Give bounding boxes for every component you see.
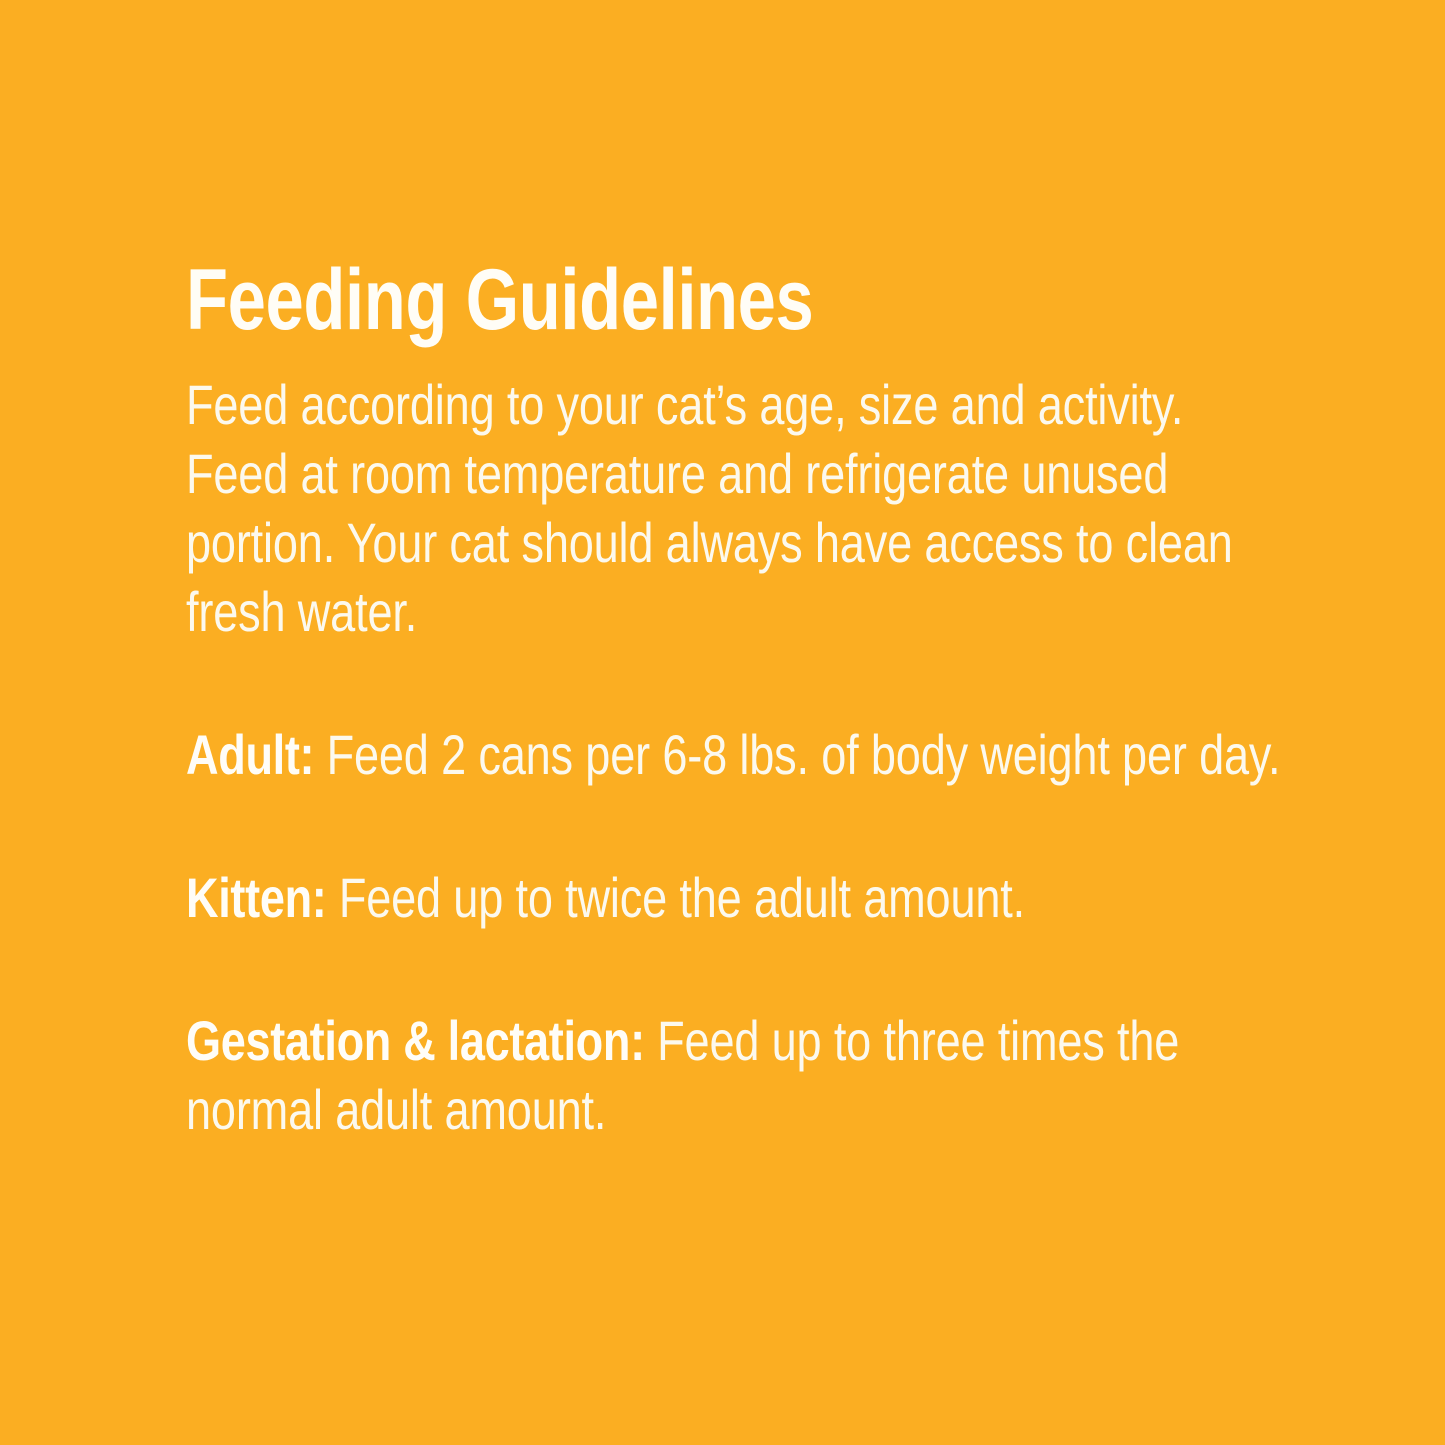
paragraph-gestation-lead: Gestation & lactation: bbox=[186, 1009, 645, 1072]
page-title: Feeding Guidelines bbox=[186, 252, 1074, 348]
paragraph-intro: Feed according to your cat’s age, size a… bbox=[186, 370, 1285, 646]
content-column: Feeding Guidelines Feed according to you… bbox=[186, 252, 1296, 1144]
paragraph-spacer bbox=[186, 803, 1296, 863]
paragraph-adult-lead: Adult: bbox=[186, 723, 314, 786]
paragraph-kitten-lead: Kitten: bbox=[186, 866, 326, 929]
paragraph-gestation: Gestation & lactation: Feed up to three … bbox=[186, 1006, 1285, 1144]
feeding-guidelines-panel: Feeding Guidelines Feed according to you… bbox=[0, 0, 1445, 1445]
paragraph-kitten-body: Feed up to twice the adult amount. bbox=[326, 866, 1025, 929]
paragraph-spacer bbox=[186, 660, 1296, 720]
paragraph-adult: Adult: Feed 2 cans per 6-8 lbs. of body … bbox=[186, 720, 1285, 789]
paragraph-kitten: Kitten: Feed up to twice the adult amoun… bbox=[186, 863, 1285, 932]
paragraph-intro-body: Feed according to your cat’s age, size a… bbox=[186, 373, 1233, 643]
paragraph-adult-body: Feed 2 cans per 6-8 lbs. of body weight … bbox=[314, 723, 1280, 786]
paragraph-spacer bbox=[186, 946, 1296, 1006]
